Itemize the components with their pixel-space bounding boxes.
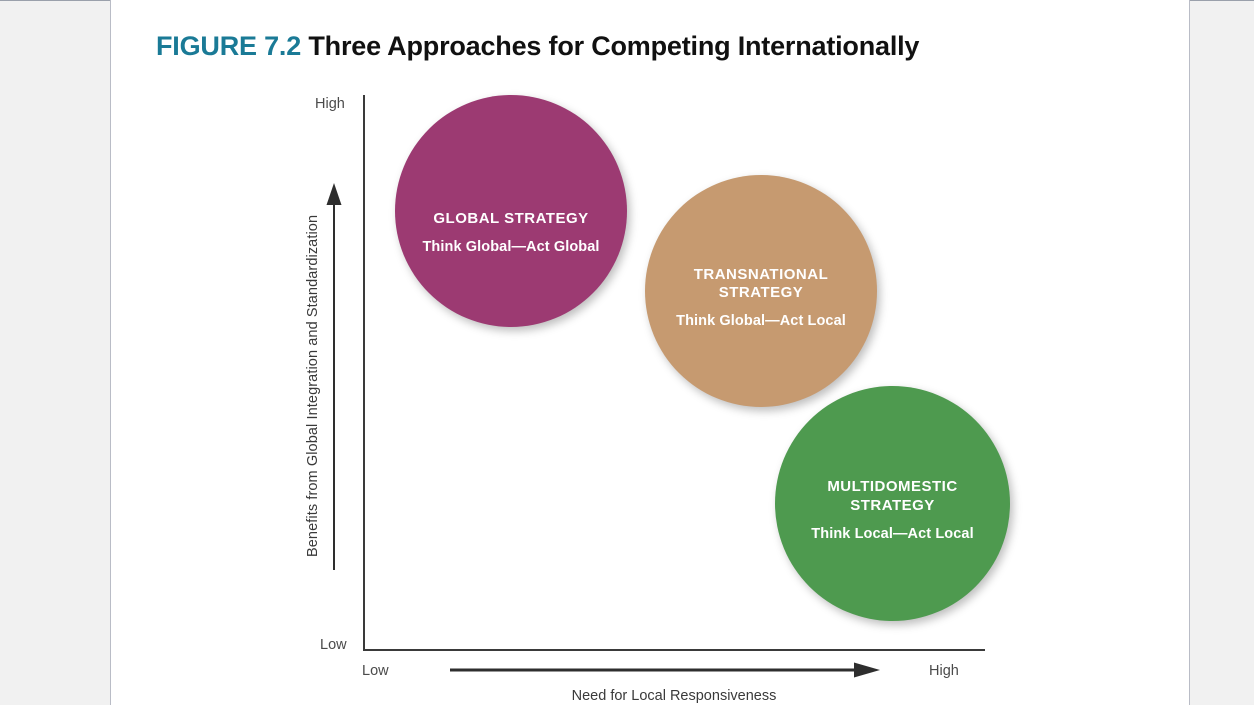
y-axis-low-tick: Low [320,637,347,653]
x-axis-line [363,649,985,651]
y-axis-label: Benefits from Global Integration and Sta… [305,227,325,557]
bubble-transnational-strategy[interactable]: TRANSNATIONAL STRATEGY Think Global—Act … [645,175,877,407]
up-arrow-icon [326,183,342,570]
x-axis-label: Need for Local Responsiveness [363,688,985,704]
bubble-title: MULTIDOMESTIC STRATEGY [811,478,973,516]
right-arrow-icon [450,662,880,678]
bubble-title: TRANSNATIONAL STRATEGY [676,266,846,304]
y-axis-line [363,95,365,651]
bubble-tagline: Think Global—Act Global [422,238,599,256]
x-axis-low-tick: Low [362,663,389,679]
x-axis-high-tick: High [929,663,959,679]
bubble-title: GLOBAL STRATEGY [422,210,599,229]
figure-chart: High Low Low High Benefits from Global I… [0,0,1254,705]
bubble-tagline: Think Local—Act Local [811,525,973,543]
bubble-multidomestic-strategy[interactable]: MULTIDOMESTIC STRATEGY Think Local—Act L… [775,386,1010,621]
y-axis-high-tick: High [315,96,345,112]
bubble-global-strategy[interactable]: GLOBAL STRATEGY Think Global—Act Global [395,95,627,327]
bubble-tagline: Think Global—Act Local [676,312,846,330]
